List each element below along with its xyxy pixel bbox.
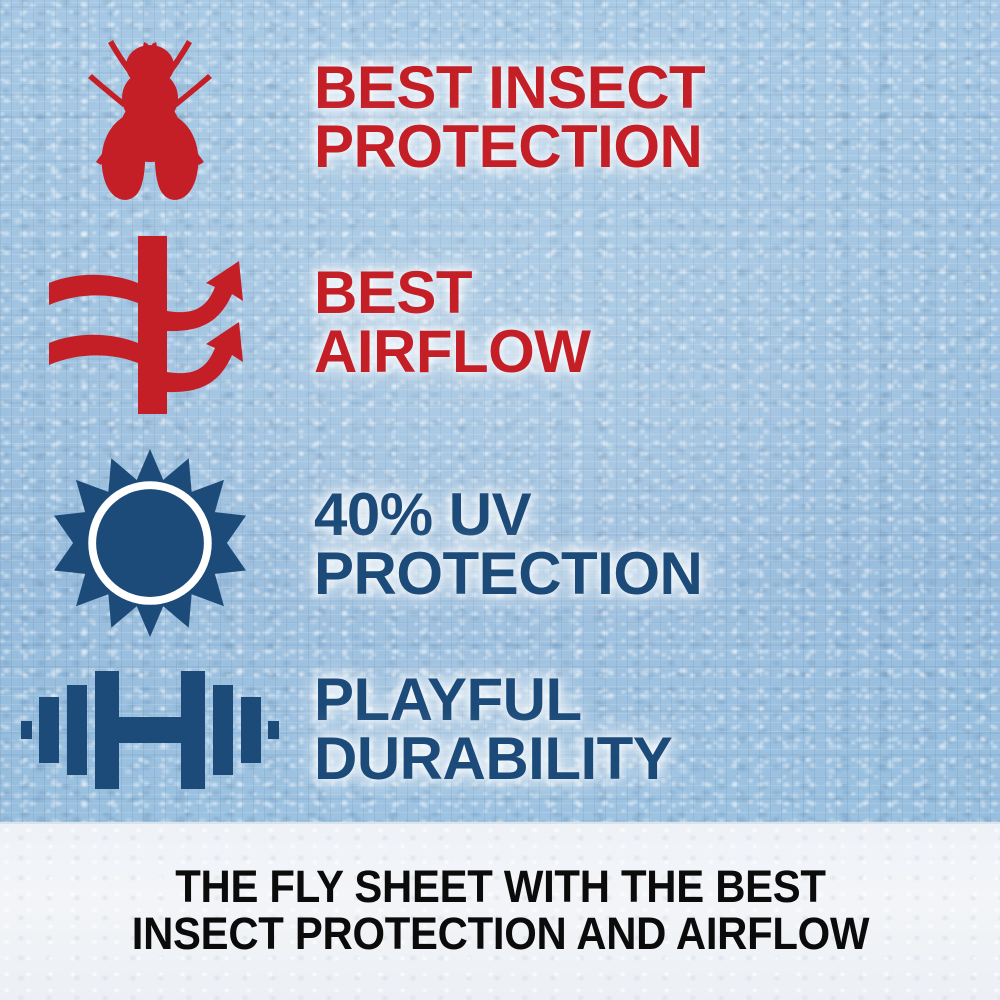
product-feature-infographic: BEST INSECT PROTECTION [0, 0, 1000, 1000]
feature-text-cell: 40% UV PROTECTION [300, 486, 1000, 604]
feature-text-cell: BEST AIRFLOW [300, 264, 1000, 382]
fly-icon [75, 26, 225, 211]
feature-icon-cell [0, 665, 300, 795]
feature-list: BEST INSECT PROTECTION [0, 0, 1000, 822]
feature-row-uv-protection: 40% UV PROTECTION [0, 440, 1000, 650]
feature-label-insect-protection: BEST INSECT PROTECTION [314, 59, 1000, 177]
bottom-caption-bar: THE FLY SHEET WITH THE BEST INSECT PROTE… [0, 822, 1000, 1000]
feature-icon-cell [0, 447, 300, 643]
feature-label-uv-protection: 40% UV PROTECTION [314, 486, 1000, 604]
airflow-arrows-icon [43, 231, 258, 416]
feature-label-airflow: BEST AIRFLOW [314, 264, 1000, 382]
feature-icon-cell [0, 26, 300, 211]
feature-row-airflow: BEST AIRFLOW [0, 228, 1000, 418]
feature-text-cell: PLAYFUL DURABILITY [300, 671, 1000, 789]
feature-row-durability: PLAYFUL DURABILITY [0, 645, 1000, 815]
caption-headline: THE FLY SHEET WITH THE BEST INSECT PROTE… [131, 864, 868, 962]
feature-text-cell: BEST INSECT PROTECTION [300, 59, 1000, 177]
sun-uv-icon [52, 447, 248, 643]
feature-icon-cell [0, 231, 300, 416]
dumbbell-icon [21, 665, 279, 795]
feature-label-durability: PLAYFUL DURABILITY [314, 671, 1000, 789]
feature-row-insect-protection: BEST INSECT PROTECTION [0, 18, 1000, 218]
